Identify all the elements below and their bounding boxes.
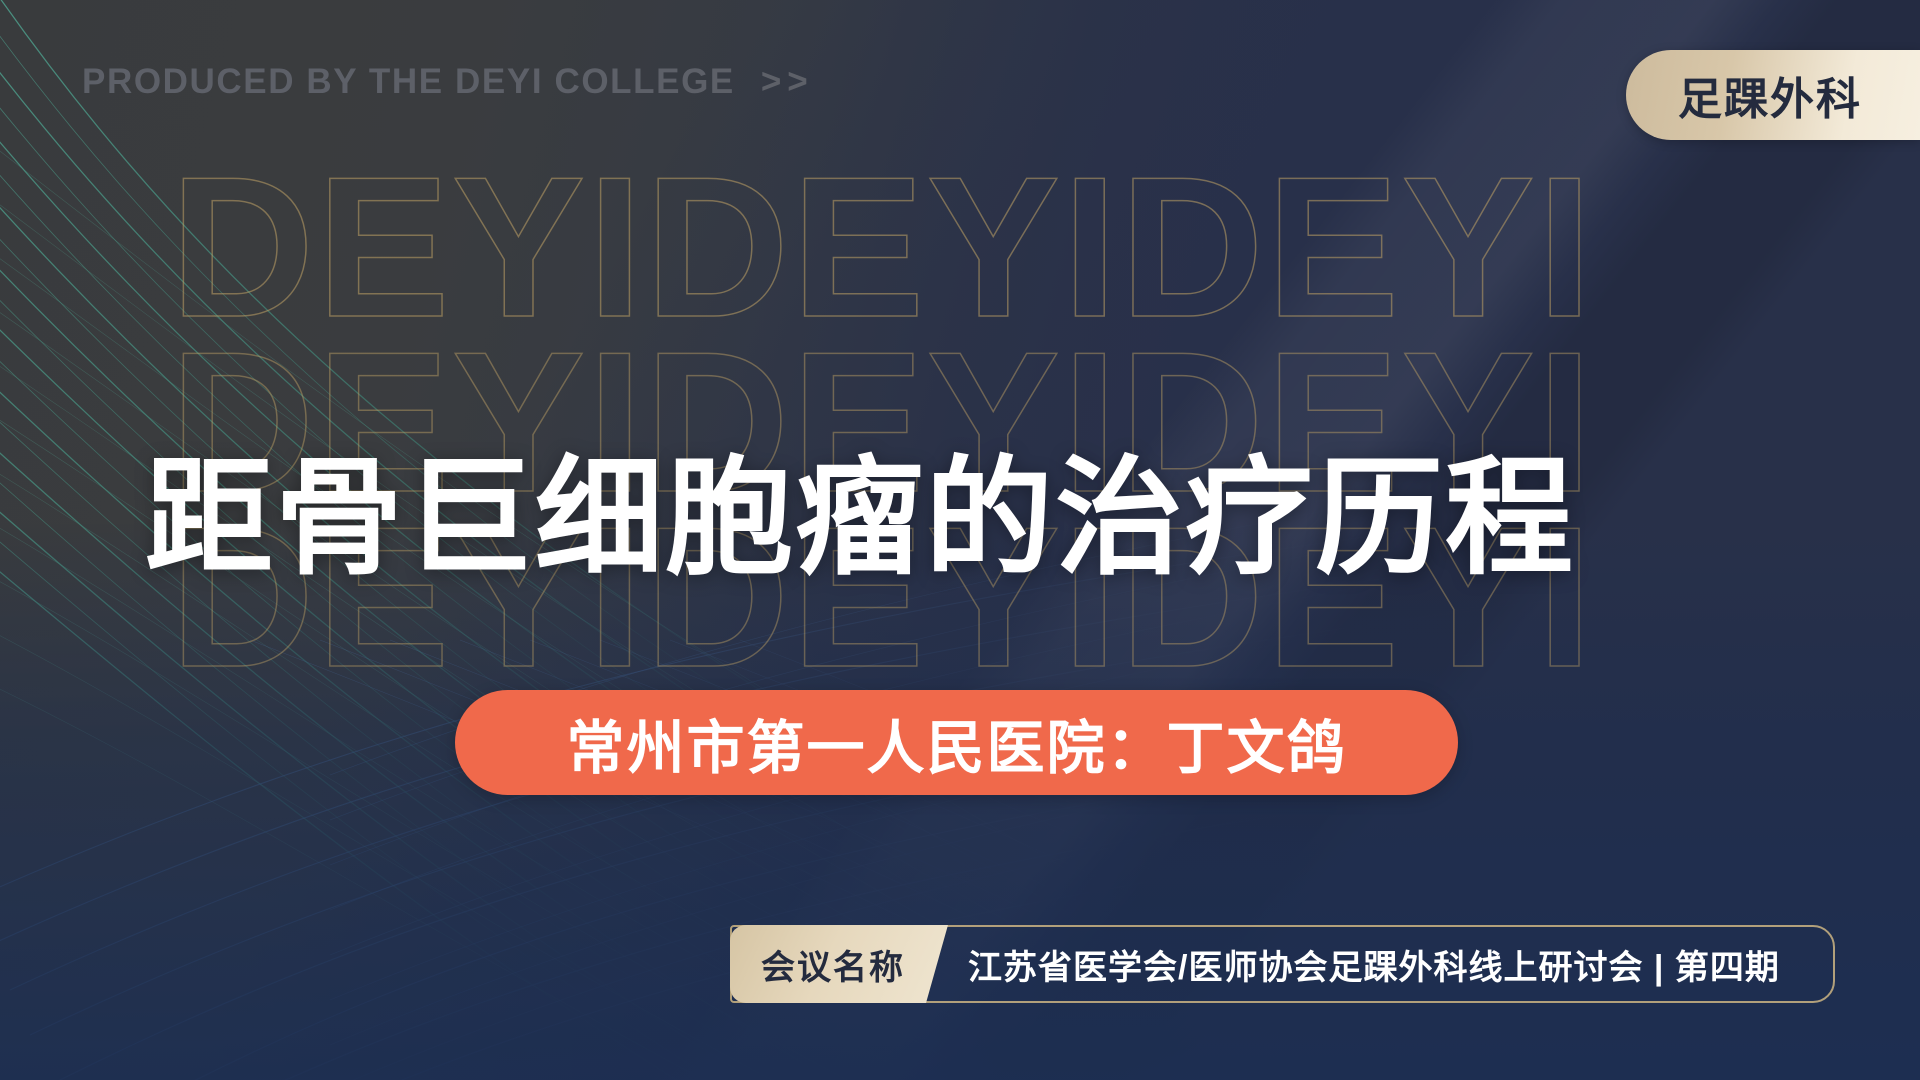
meeting-name-label-text: 会议名称	[761, 940, 905, 989]
chevron-right-icon: >>	[761, 62, 814, 101]
meeting-name-label: 会议名称	[730, 925, 948, 1003]
presenter-pill: 常州市第一人民医院：丁文鸽	[455, 690, 1458, 795]
meeting-name-value-text: 江苏省医学会/医师协会足踝外科线上研讨会 | 第四期	[968, 940, 1780, 989]
meeting-name-value: 江苏省医学会/医师协会足踝外科线上研讨会 | 第四期	[968, 925, 1780, 1003]
specialty-badge: 足踝外科	[1626, 50, 1920, 140]
page-title: 距骨巨细胞瘤的治疗历程	[145, 414, 1575, 599]
kicker-text: PRODUCED BY THE DEYI COLLEGE	[82, 62, 735, 101]
presenter-label: 常州市第一人民医院：丁文鸽	[566, 701, 1346, 785]
title-slide: DEYIDEYIDEYI DEYIDEYIDEYI DEYIDEYIDEYI P…	[0, 0, 1920, 1080]
specialty-badge-label: 足踝外科	[1678, 63, 1862, 127]
produced-by-kicker: PRODUCED BY THE DEYI COLLEGE>>	[82, 62, 814, 102]
meeting-bar: 会议名称 江苏省医学会/医师协会足踝外科线上研讨会 | 第四期	[730, 925, 1835, 1003]
